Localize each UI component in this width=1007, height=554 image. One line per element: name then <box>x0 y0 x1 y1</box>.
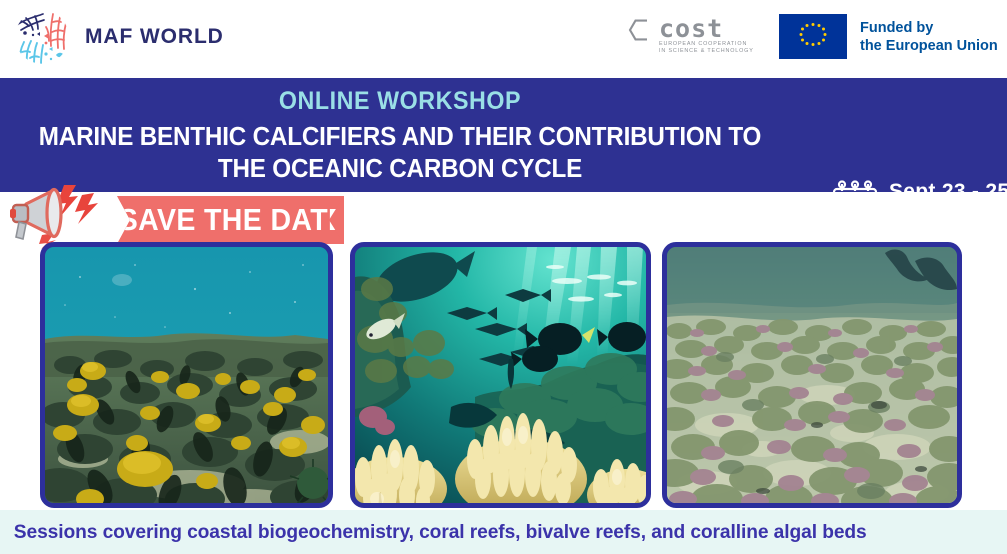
event-date-line-1: Sept 23 - 25 <box>889 179 1007 204</box>
eu-funding-text: Funded by the European Union <box>860 19 998 55</box>
banner-title-line-2: THE OCEANIC CARBON CYCLE <box>20 153 780 185</box>
poster-canvas: MAF WORLD cost EUROPEAN COOPERATION IN S… <box>0 0 1007 554</box>
european-union-flag-icon <box>779 14 847 59</box>
maf-world-circular-reef-logo-icon <box>13 8 71 66</box>
brand-lockup: MAF WORLD <box>13 8 224 66</box>
save-the-date-label: SAVE THE DATE <box>113 202 347 238</box>
photo-bivalve-mussel-bed <box>40 242 333 508</box>
footer-sessions-text: Sessions covering coastal biogeochemistr… <box>0 521 867 544</box>
event-date-block: Sept 23 - 25 2025 <box>830 179 1007 229</box>
save-the-date-ribbon-inner: SAVE THE DATE <box>117 196 344 244</box>
event-date-line-2: 2025 <box>889 204 1007 229</box>
calendar-icon <box>830 179 880 229</box>
photo-coral-reef <box>350 242 651 508</box>
header-bar: MAF WORLD cost EUROPEAN COOPERATION IN S… <box>0 0 1007 78</box>
eu-funding-line-1: Funded by <box>860 19 998 37</box>
photo-gallery <box>0 242 1007 510</box>
banner-text-block: ONLINE WORKSHOP MARINE BENTHIC CALCIFIER… <box>0 87 800 185</box>
brand-name: MAF WORLD <box>85 25 224 49</box>
footer-bar: Sessions covering coastal biogeochemistr… <box>0 510 1007 554</box>
photo-coralline-algal-bed <box>662 242 962 508</box>
banner-title-line-1: MARINE BENTHIC CALCIFIERS AND THEIR CONT… <box>20 121 780 153</box>
banner-kicker: ONLINE WORKSHOP <box>28 87 772 116</box>
cost-wordmark: cost <box>659 16 754 41</box>
workshop-banner: ONLINE WORKSHOP MARINE BENTHIC CALCIFIER… <box>0 78 1007 192</box>
eu-funding-line-2: the European Union <box>860 37 998 55</box>
cost-logo: cost EUROPEAN COOPERATION IN SCIENCE & T… <box>628 16 754 56</box>
megaphone-icon <box>2 183 120 249</box>
save-the-date-ribbon: SAVE THE DATE <box>117 196 344 244</box>
cost-subtitle-line-2: IN SCIENCE & TECHNOLOGY <box>659 48 754 55</box>
eu-funding-lockup: Funded by the European Union <box>779 14 998 59</box>
cost-subtitle-line-1: EUROPEAN COOPERATION <box>659 41 754 48</box>
event-date-text: Sept 23 - 25 2025 <box>889 179 1007 229</box>
banner-title: MARINE BENTHIC CALCIFIERS AND THEIR CONT… <box>20 121 780 185</box>
cost-hexagon-icon <box>628 17 654 48</box>
